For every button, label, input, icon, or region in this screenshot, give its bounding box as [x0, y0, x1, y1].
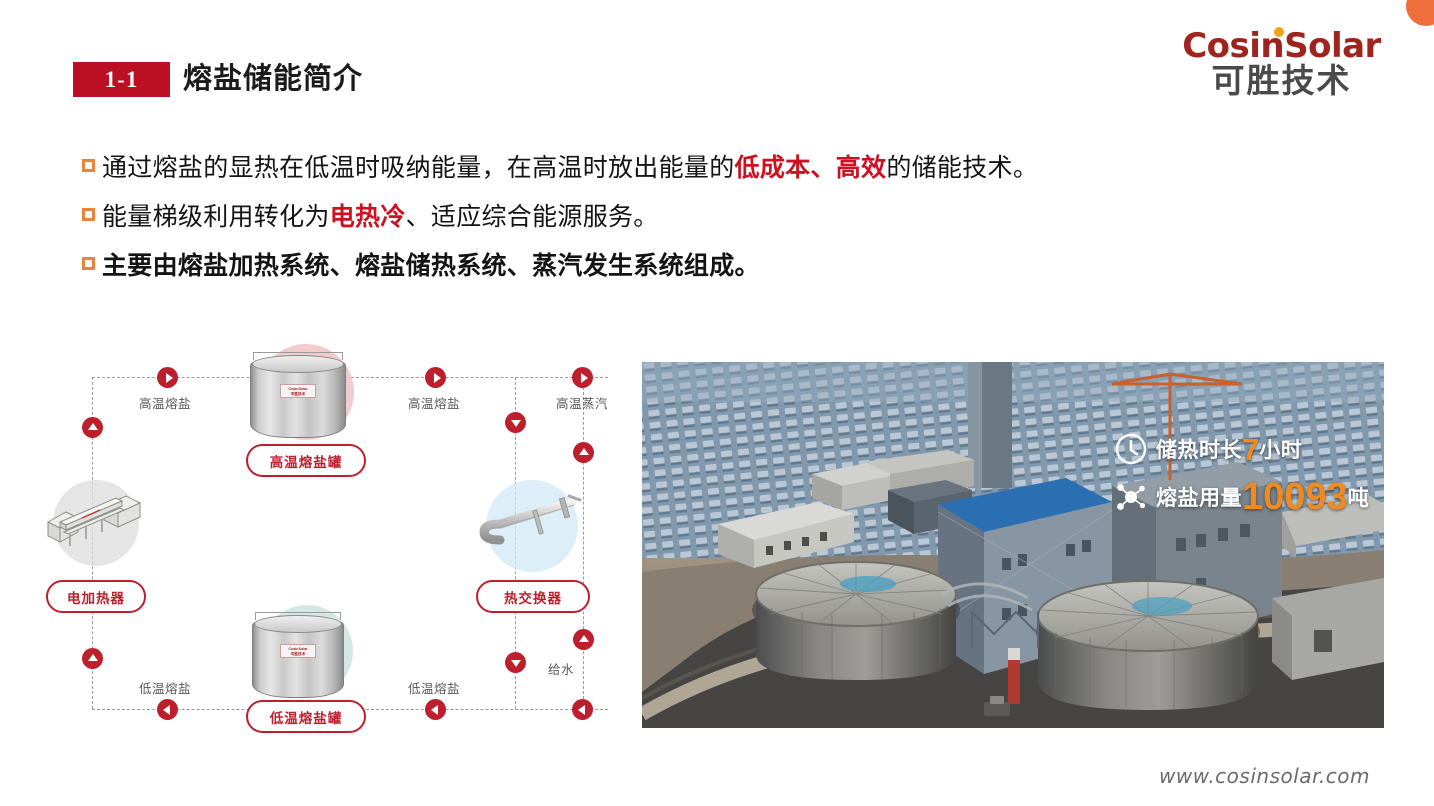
page-title: 熔盐储能简介: [183, 59, 363, 99]
flow-arrow-right: [425, 367, 446, 388]
caption-prefix: 熔盐用量: [1156, 482, 1242, 512]
heat-exchanger-label: 热交换器: [476, 580, 590, 613]
photo-caption-block: 储热时长 7 小时: [1114, 432, 1369, 516]
bullet-text: 能量梯级利用转化为电热冷、适应综合能源服务。: [102, 199, 659, 235]
flow-arrow-down: [505, 652, 526, 673]
hot-salt-tank-illustration: CosinSolar可胜技术: [250, 350, 346, 442]
flow-label-cold-salt-bottom-left: 低温熔盐: [139, 678, 191, 697]
bullet-segment: 的储能技术。: [886, 154, 1038, 182]
flow-arrow-down: [505, 412, 526, 433]
heat-exchanger-illustration: [476, 492, 588, 558]
caption-prefix: 储热时长: [1156, 434, 1242, 464]
process-flow-diagram: 高温熔盐 高温熔盐 高温蒸汽 低温熔盐 低温熔盐 给水: [78, 352, 628, 734]
flow-arrow-left: [572, 699, 593, 720]
electric-heater-illustration: [44, 492, 148, 554]
flow-arrow-left: [425, 699, 446, 720]
slide-root: 1-1 熔盐储能简介 CosinSolar 可胜技术 通过熔盐的显热在低温时吸纳…: [0, 0, 1434, 806]
flow-label-feed-water: 给水: [548, 659, 574, 678]
bullet-segment: 能量梯级利用转化为: [102, 203, 330, 231]
section-number-badge: 1-1: [73, 62, 170, 97]
bullet-segment: 通过熔盐的显热在低温时吸纳能量，在高温时放出能量的: [102, 154, 735, 182]
photo-caption-row: 储热时长 7 小时: [1114, 432, 1369, 466]
bullet-item: 能量梯级利用转化为电热冷、适应综合能源服务。: [82, 199, 1372, 235]
flow-label-hot-salt-top-left: 高温熔盐: [139, 393, 191, 412]
bullet-highlight: 电热冷: [330, 203, 406, 231]
bullet-highlight: 低成本、高效: [735, 154, 887, 182]
tank-roof: [252, 355, 344, 373]
bullet-text: 主要由熔盐加热系统、熔盐储热系统、蒸汽发生系统组成。: [102, 248, 760, 284]
tank-shell: [250, 362, 346, 438]
flow-label-hot-salt-top-right: 高温熔盐: [408, 393, 460, 412]
electric-heater-label: 电加热器: [46, 580, 146, 613]
caption-value: 10093: [1242, 478, 1348, 516]
caption-suffix: 小时: [1259, 434, 1302, 464]
bullet-item: 通过熔盐的显热在低温时吸纳能量，在高温时放出能量的低成本、高效的储能技术。: [82, 150, 1372, 186]
flow-arrow-up: [573, 629, 594, 650]
plant-photograph: 储热时长 7 小时: [642, 362, 1384, 728]
logo-english-text: CosinSolar: [1182, 28, 1381, 64]
molecule-icon: [1114, 480, 1148, 514]
cold-salt-tank-label: 低温熔盐罐: [246, 700, 366, 733]
flow-label-hot-steam: 高温蒸汽: [556, 393, 608, 412]
hot-salt-tank-label: 高温熔盐罐: [246, 444, 366, 477]
flow-arrow-left: [157, 699, 178, 720]
flow-arrow-right: [572, 367, 593, 388]
flow-arrow-right: [157, 367, 178, 388]
hollow-square-icon: [82, 159, 95, 172]
caption-value: 7: [1242, 434, 1259, 465]
flow-arrow-up: [82, 648, 103, 669]
tank-nameplate: CosinSolar可胜技术: [280, 644, 316, 658]
flow-label-cold-salt-bottom-right: 低温熔盐: [408, 678, 460, 697]
tank-roof: [254, 615, 342, 633]
logo-chinese-label: 可胜技术: [1174, 63, 1389, 99]
bullet-text: 通过熔盐的显热在低温时吸纳能量，在高温时放出能量的低成本、高效的储能技术。: [102, 150, 1038, 186]
bullet-item: 主要由熔盐加热系统、熔盐储热系统、蒸汽发生系统组成。: [82, 248, 1372, 284]
tank-shell: [252, 622, 344, 698]
hollow-square-icon: [82, 257, 95, 270]
photo-caption-row: 熔盐用量 10093 吨: [1114, 478, 1369, 516]
hollow-square-icon: [82, 208, 95, 221]
bullet-list: 通过熔盐的显热在低温时吸纳能量，在高温时放出能量的低成本、高效的储能技术。 能量…: [82, 150, 1372, 297]
tank-nameplate: CosinSolar可胜技术: [280, 384, 316, 398]
flow-arrow-up: [573, 442, 594, 463]
caption-suffix: 吨: [1348, 482, 1370, 512]
flow-arrow-up: [82, 417, 103, 438]
clock-icon: [1114, 432, 1148, 466]
bullet-segment: 、适应综合能源服务。: [406, 203, 659, 231]
corner-accent-shape: [1406, 0, 1434, 26]
footer-website-url: www.cosinsolar.com: [1159, 764, 1370, 788]
cold-salt-tank-illustration: CosinSolar可胜技术: [252, 610, 344, 698]
company-logo: CosinSolar 可胜技术: [1174, 28, 1389, 99]
